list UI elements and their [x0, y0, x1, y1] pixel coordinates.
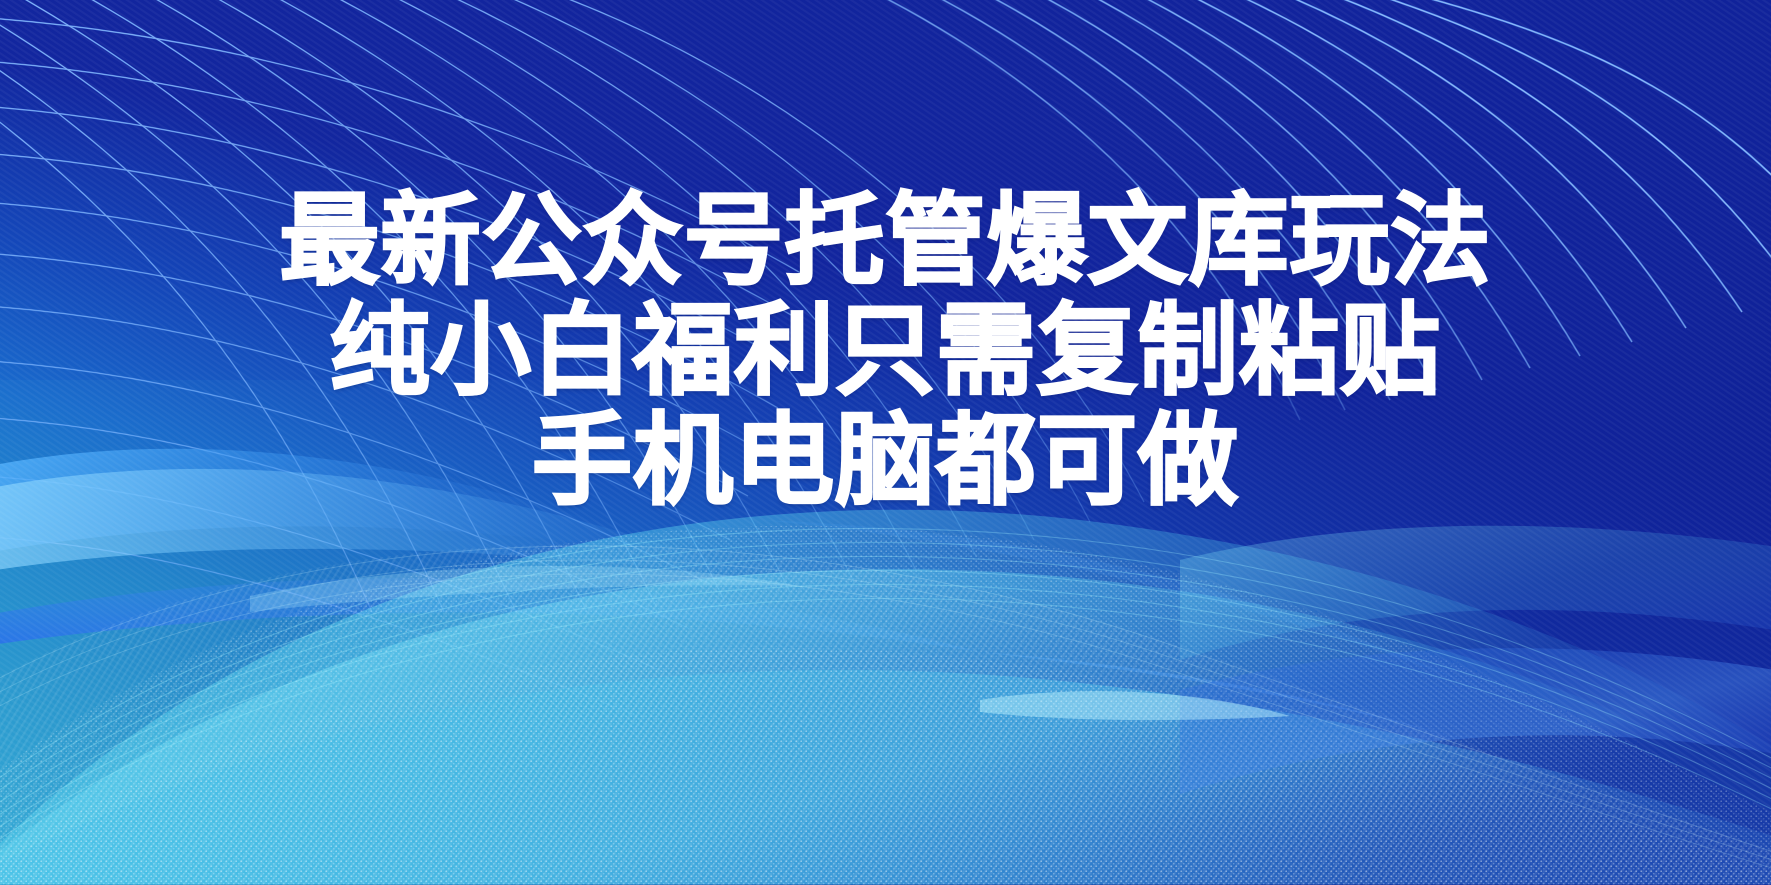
poster-canvas: 最新公众号托管爆文库玩法 纯小白福利只需复制粘贴 手机电脑都可做 — [0, 0, 1771, 885]
diagonal-hatch-texture — [0, 0, 1771, 885]
